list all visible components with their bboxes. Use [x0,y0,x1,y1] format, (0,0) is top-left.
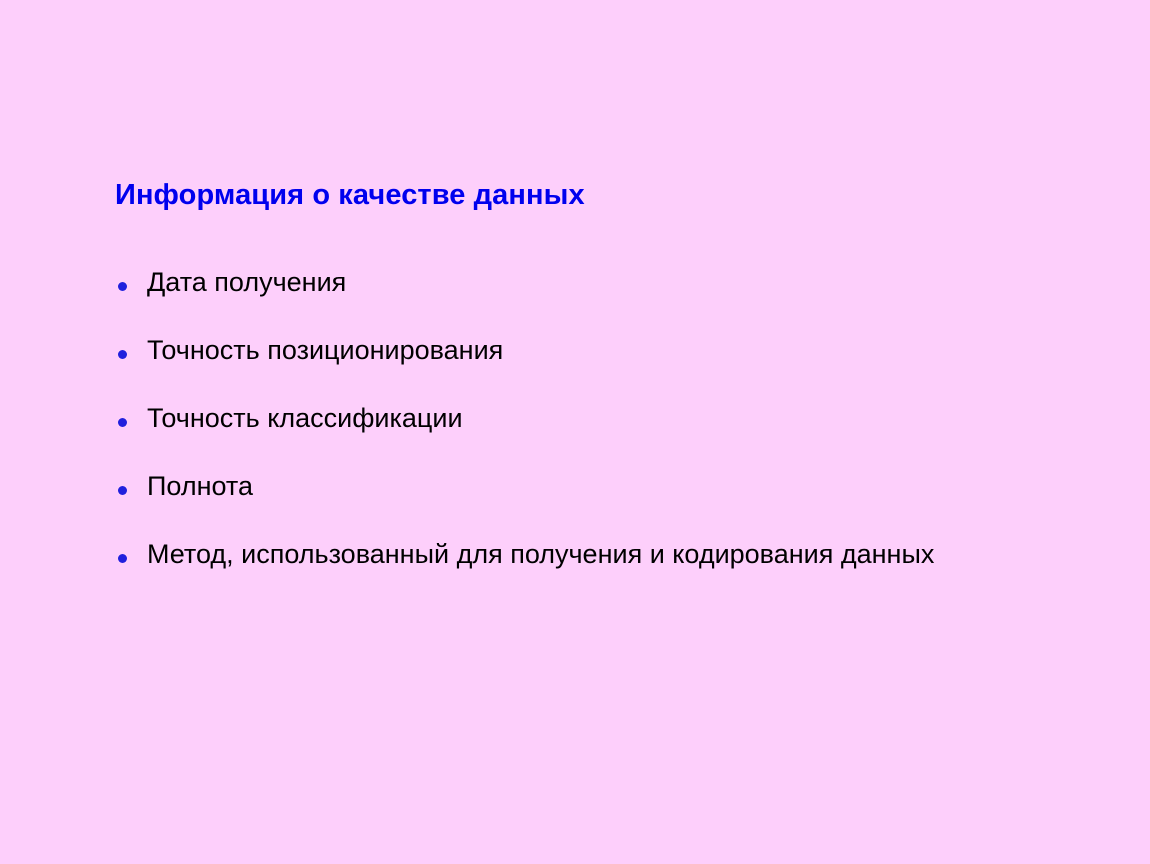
bullet-dot-icon [118,554,127,563]
slide-title: Информация о качестве данных [115,179,585,212]
bullet-dot-icon [118,486,127,495]
bullet-dot-icon [118,350,127,359]
list-item-label: Метод, использованный для получения и ко… [147,535,1075,573]
list-item-label: Точность позиционирования [147,331,1075,369]
bullet-dot-icon [118,282,127,291]
list-item-label: Дата получения [147,263,1075,301]
list-item: Точность позиционирования [115,331,1075,399]
bullet-dot-icon [118,418,127,427]
presentation-slide: Информация о качестве данных Дата получе… [0,0,1150,864]
bullet-list: Дата получения Точность позиционирования… [115,263,1075,603]
list-item: Дата получения [115,263,1075,331]
list-item-label: Полнота [147,467,1075,505]
list-item-label: Точность классификации [147,399,1075,437]
list-item: Метод, использованный для получения и ко… [115,535,1075,603]
list-item: Точность классификации [115,399,1075,467]
list-item: Полнота [115,467,1075,535]
